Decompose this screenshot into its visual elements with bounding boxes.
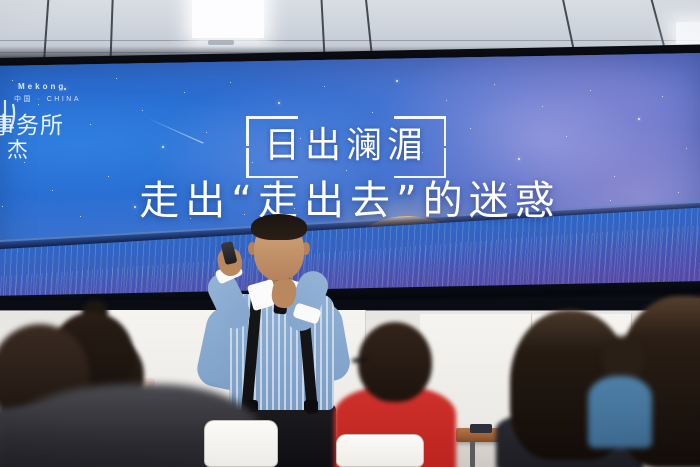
ceiling-light-panel	[676, 22, 700, 44]
brand-english: Mekong	[18, 82, 66, 91]
brand-name-line: 志 杰	[0, 134, 35, 164]
attendee-far-right-back	[586, 336, 652, 446]
ceiling-vent	[208, 40, 234, 45]
presenter-suspender-clip	[304, 400, 318, 412]
slide-title: 日出澜湄	[246, 124, 446, 168]
ceiling-light-panel	[192, 0, 264, 38]
presenter-hair	[251, 214, 307, 240]
chair-right	[336, 434, 424, 467]
desk-leg	[470, 441, 475, 467]
chair-left	[204, 420, 278, 467]
shooting-star	[146, 117, 203, 143]
brand-country-line: 中国 · CHINA	[14, 94, 81, 104]
presentation-photo-scene: Mekong 中国 · CHINA 师事务所 志 杰 日出澜湄 走出“走出去”的…	[0, 0, 700, 467]
